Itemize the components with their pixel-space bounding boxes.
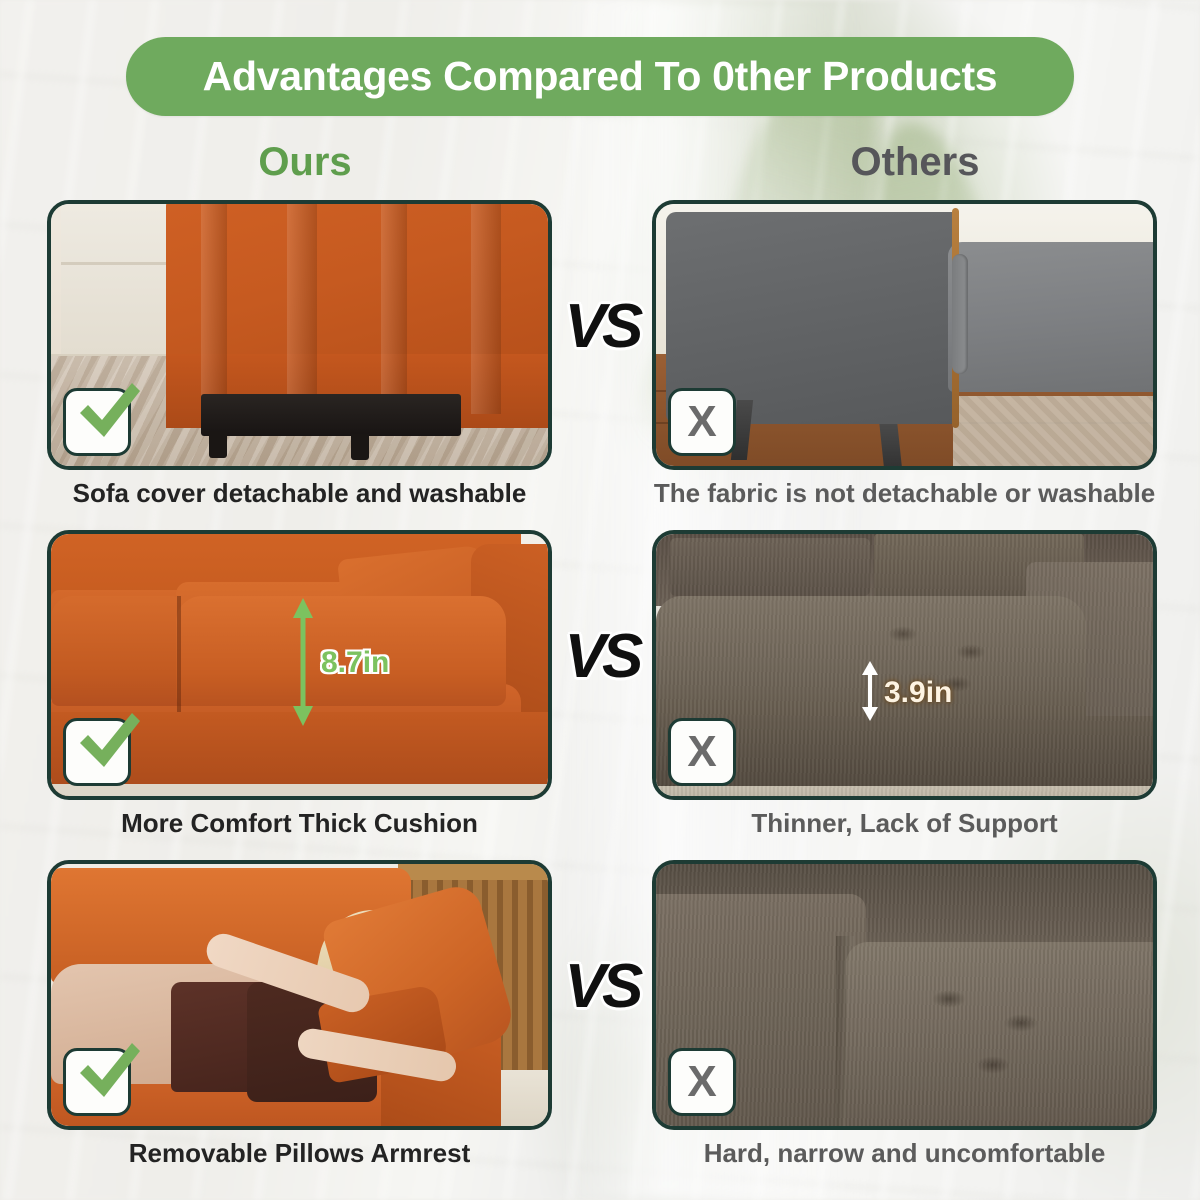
others-image-card-1: X (652, 200, 1157, 470)
page-title: Advantages Compared To 0ther Products (203, 53, 998, 100)
check-icon (72, 705, 144, 777)
title-banner: Advantages Compared To 0ther Products (126, 37, 1074, 116)
x-icon: X (687, 400, 716, 444)
others-image-card-3: X (652, 860, 1157, 1130)
x-badge: X (668, 1048, 736, 1116)
ours-caption-1: Sofa cover detachable and washable (47, 478, 552, 509)
ours-caption-3: Removable Pillows Armrest (47, 1138, 552, 1169)
vs-badge-3: VS (556, 956, 648, 1018)
measurement-ours-2: 8.7in (291, 596, 315, 733)
column-header-ours: Ours (180, 140, 430, 185)
x-icon: X (687, 730, 716, 774)
others-caption-1: The fabric is not detachable or washable (652, 478, 1157, 509)
x-badge: X (668, 718, 736, 786)
measurement-others-2: 3.9in (860, 660, 880, 727)
measurement-label-ours-2: 8.7in (321, 648, 389, 678)
ours-image-card-3 (47, 860, 552, 1130)
check-badge (63, 1048, 131, 1116)
check-badge (63, 388, 131, 456)
ours-image-card-2: 8.7in (47, 530, 552, 800)
x-icon: X (687, 1060, 716, 1104)
double-arrow-icon (860, 660, 880, 722)
ours-image-card-1 (47, 200, 552, 470)
ours-caption-2: More Comfort Thick Cushion (47, 808, 552, 839)
others-image-card-2: 3.9in X (652, 530, 1157, 800)
double-arrow-icon (291, 596, 315, 728)
check-icon (72, 375, 144, 447)
others-caption-3: Hard, narrow and uncomfortable (652, 1138, 1157, 1169)
others-caption-2: Thinner, Lack of Support (652, 808, 1157, 839)
vs-badge-1: VS (556, 296, 648, 358)
check-badge (63, 718, 131, 786)
comparison-infographic: Advantages Compared To 0ther Products Ou… (0, 0, 1200, 1200)
x-badge: X (668, 388, 736, 456)
column-header-others: Others (790, 140, 1040, 185)
vs-badge-2: VS (556, 626, 648, 688)
measurement-label-others-2: 3.9in (884, 678, 952, 708)
check-icon (72, 1035, 144, 1107)
